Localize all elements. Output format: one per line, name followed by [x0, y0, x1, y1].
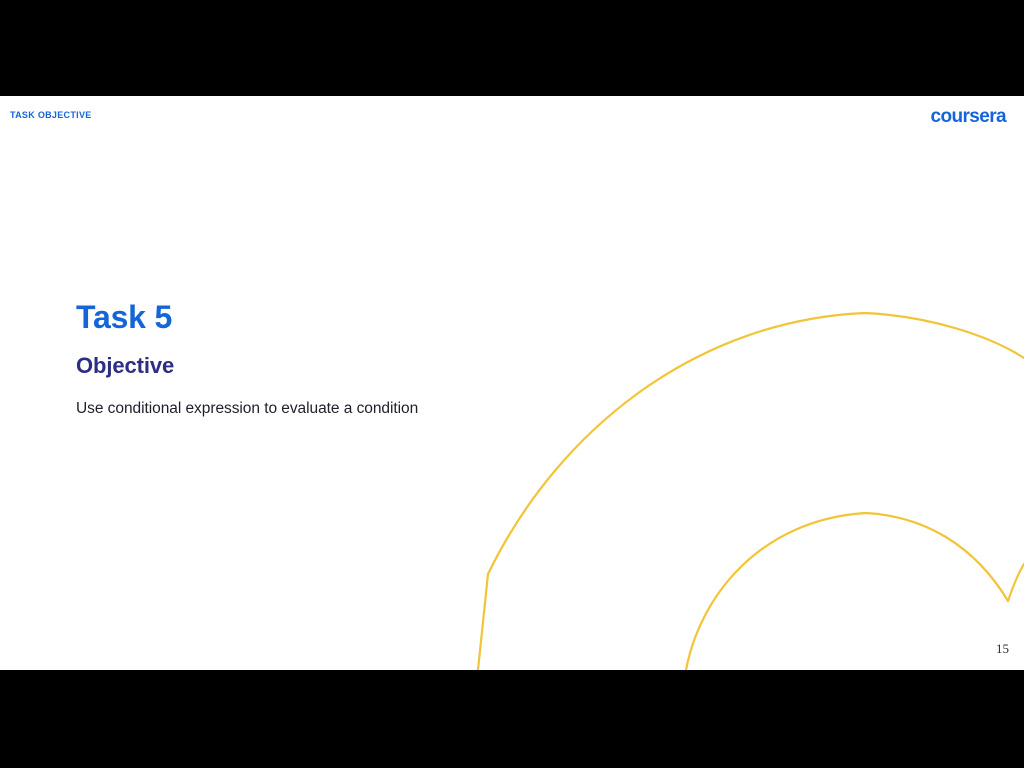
coursera-logo: coursera	[931, 106, 1006, 128]
slide-canvas: TASK OBJECTIVE coursera Task 5 Objective…	[0, 96, 1024, 670]
letterbox-bottom-bar	[0, 670, 1024, 768]
letterbox-top-bar	[0, 0, 1024, 96]
slide-eyebrow-label: TASK OBJECTIVE	[10, 110, 92, 120]
page-number: 15	[996, 641, 1009, 657]
task-title: Task 5	[76, 301, 456, 335]
slide-text-block: Task 5 Objective Use conditional express…	[76, 301, 456, 422]
objective-heading: Objective	[76, 354, 456, 378]
objective-description: Use conditional expression to evaluate a…	[76, 396, 426, 423]
